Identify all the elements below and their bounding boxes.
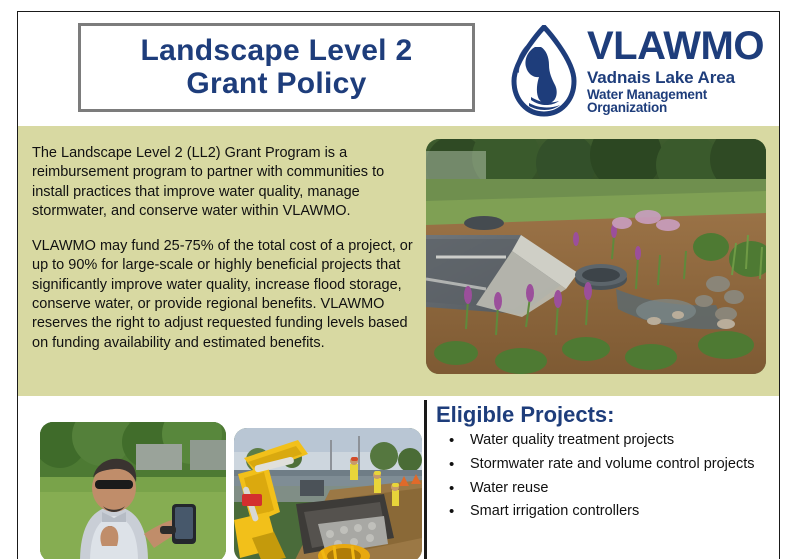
intro-text: The Landscape Level 2 (LL2) Grant Progra…	[32, 144, 417, 353]
bullet-icon: •	[449, 478, 454, 499]
list-item-label: Stormwater rate and volume control proje…	[470, 456, 755, 472]
bullet-icon: •	[449, 430, 454, 451]
photo-thumbs-up	[40, 422, 226, 559]
logo-subtitle-2: Water Management Organization	[587, 88, 775, 115]
water-drop-heron-logo-icon	[505, 25, 583, 117]
list-item: • Water quality treatment projects	[436, 430, 766, 451]
document-header: Landscape Level 2 Grant Policy VLAWMO Va…	[18, 12, 779, 126]
bullet-icon: •	[449, 501, 454, 522]
photo-raingarden	[426, 139, 766, 374]
list-item-label: Water quality treatment projects	[470, 432, 674, 448]
logo-text-block: VLAWMO Vadnais Lake Area Water Managemen…	[587, 27, 775, 114]
photo-excavator	[234, 428, 422, 559]
eligible-projects-heading: Eligible Projects:	[436, 402, 766, 428]
list-item-label: Water reuse	[470, 480, 548, 496]
page-title-line2: Grant Policy	[186, 68, 366, 100]
intro-paragraph-1: The Landscape Level 2 (LL2) Grant Progra…	[32, 144, 417, 221]
eligible-projects-list: • Water quality treatment projects • Sto…	[436, 430, 766, 521]
bottom-section: Eligible Projects: • Water quality treat…	[18, 396, 779, 559]
list-item-label: Smart irrigation controllers	[470, 503, 639, 519]
eligible-projects-section: Eligible Projects: • Water quality treat…	[436, 402, 766, 525]
intro-paragraph-2: VLAWMO may fund 25-75% of the total cost…	[32, 237, 417, 353]
list-item: • Smart irrigation controllers	[436, 501, 766, 522]
list-item: • Stormwater rate and volume control pro…	[436, 454, 766, 475]
logo-wordmark: VLAWMO	[587, 27, 775, 65]
intro-band: The Landscape Level 2 (LL2) Grant Progra…	[18, 126, 779, 396]
logo-subtitle-1: Vadnais Lake Area	[587, 69, 775, 86]
list-item: • Water reuse	[436, 478, 766, 499]
page-title-line1: Landscape Level 2	[141, 35, 413, 67]
bullet-icon: •	[449, 454, 454, 475]
column-divider	[424, 400, 427, 559]
title-box: Landscape Level 2 Grant Policy	[78, 23, 475, 112]
document-page: Landscape Level 2 Grant Policy VLAWMO Va…	[17, 11, 780, 559]
vlawmo-logo: VLAWMO Vadnais Lake Area Water Managemen…	[505, 21, 775, 121]
